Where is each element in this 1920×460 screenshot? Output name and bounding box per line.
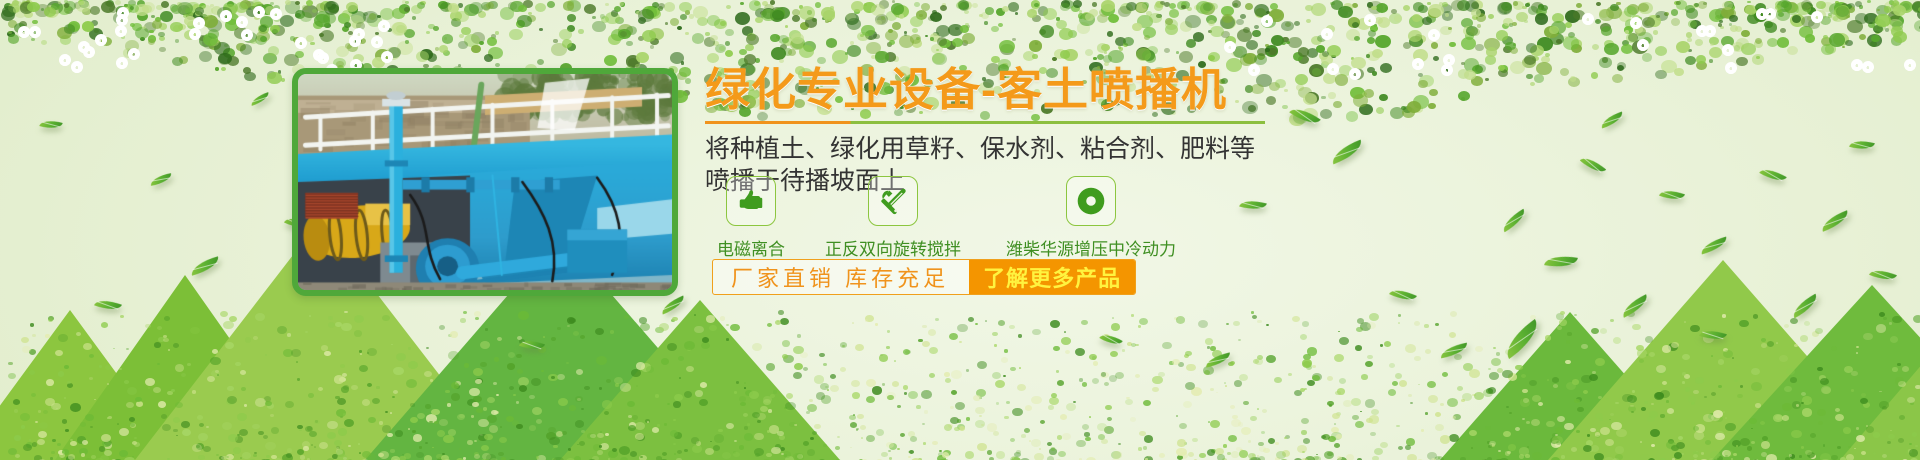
cta-bar: 厂家直销 库存充足 了解更多产品 (712, 259, 1136, 295)
cta-tagline: 厂家直销 库存充足 (713, 260, 969, 294)
product-photo-canvas (298, 74, 672, 290)
feature-item-electromagnetic-clutch[interactable]: 电磁离合 (703, 176, 799, 260)
feature-label: 正反双向旋转搅拌 (808, 235, 978, 260)
gear-icon (1066, 176, 1116, 226)
feature-label: 电磁离合 (703, 235, 799, 260)
tools-icon (868, 176, 918, 226)
subtitle-line-1: 将种植土、绿化用草籽、保水剂、粘合剂、肥料等 (705, 133, 1475, 166)
learn-more-button[interactable]: 了解更多产品 (969, 260, 1135, 294)
feature-list: 电磁离合 正反双向旋转搅拌 潍柴华源增压中冷动力 (703, 176, 1203, 251)
feature-item-bidirectional-mixing[interactable]: 正反双向旋转搅拌 (808, 176, 978, 260)
feature-label: 潍柴华源增压中冷动力 (991, 235, 1191, 260)
product-image[interactable] (292, 68, 678, 296)
thumbs-up-icon (726, 176, 776, 226)
promo-banner: 绿化专业设备-客土喷播机 将种植土、绿化用草籽、保水剂、粘合剂、肥料等 喷播于待… (0, 0, 1920, 460)
feature-item-engine-power[interactable]: 潍柴华源增压中冷动力 (991, 176, 1191, 260)
page-title: 绿化专业设备-客土喷播机 (705, 66, 1475, 115)
title-underline (705, 121, 1265, 124)
